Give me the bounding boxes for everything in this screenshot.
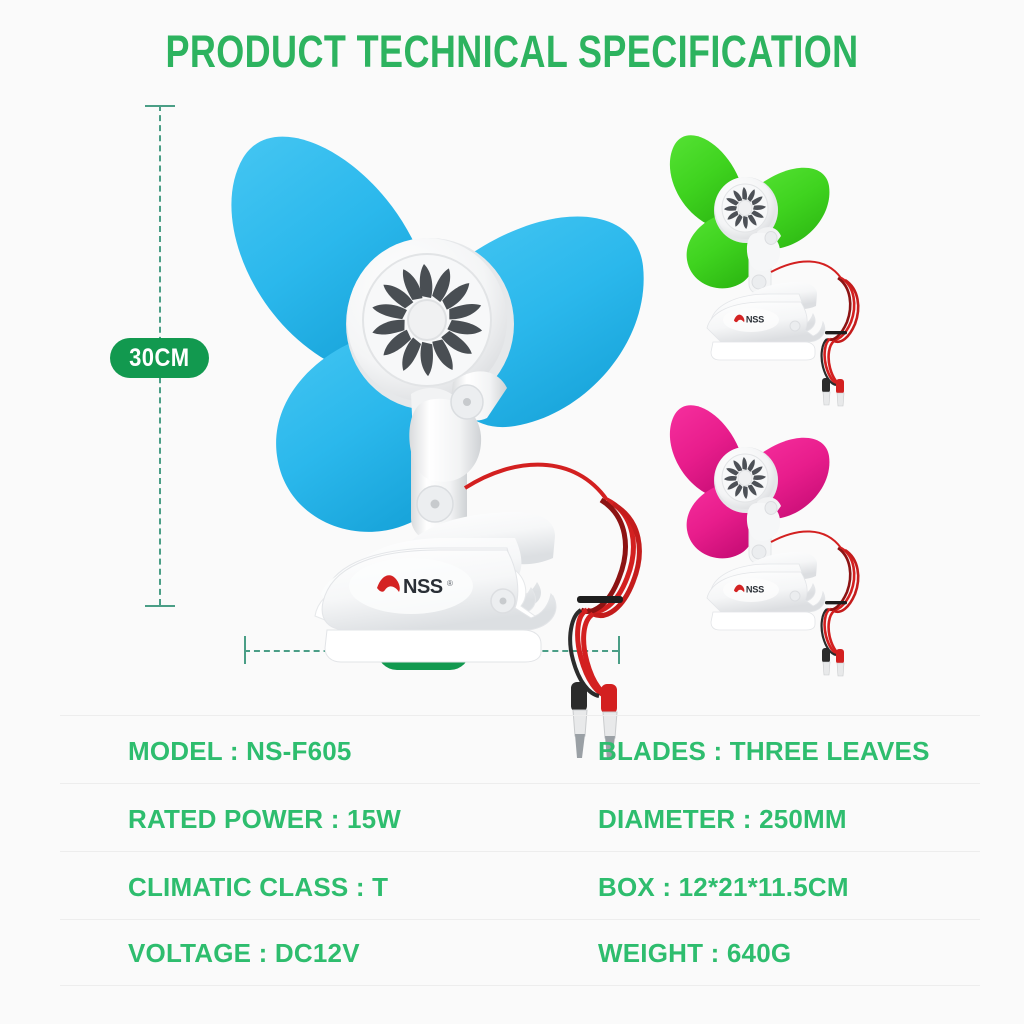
svg-text:NSS: NSS (746, 315, 764, 325)
table-rule (60, 985, 980, 986)
width-dimension-cap-right (618, 636, 620, 664)
spec-climatic-class: CLIMATIC CLASS : T (128, 872, 388, 903)
table-rule (60, 715, 980, 716)
spec-weight: WEIGHT : 640G (598, 938, 791, 969)
alligator-clip-black (822, 648, 830, 675)
height-dimension-cap-bottom (145, 605, 175, 607)
spec-model: MODEL : NS-F605 (128, 736, 352, 767)
height-dimension-cap-top (145, 105, 175, 107)
product-image-clip-fan-pink: NSS (665, 392, 905, 648)
spec-voltage: VOLTAGE : DC12V (128, 938, 360, 969)
spec-blades: BLADES : THREE LEAVES (598, 736, 930, 767)
width-dimension-cap-left (244, 636, 246, 664)
svg-text:NSS: NSS (403, 576, 443, 598)
product-image-clip-fan-green: NSS (665, 122, 905, 378)
product-spec-page: PRODUCT TECHNICAL SPECIFICATION 30CM 24C… (0, 0, 1024, 1024)
product-image-clip-fan-blue: NSS ® (215, 96, 645, 596)
fan-base-pink: NSS (707, 552, 825, 630)
page-title: PRODUCT TECHNICAL SPECIFICATION (102, 26, 921, 78)
table-rule (60, 851, 980, 852)
spec-diameter: DIAMETER : 250MM (598, 804, 847, 835)
fan-arm-pink (747, 497, 781, 564)
svg-text:NSS: NSS (746, 585, 764, 595)
specification-table: MODEL : NS-F605 BLADES : THREE LEAVES RA… (0, 700, 1024, 1000)
svg-text:®: ® (447, 579, 453, 588)
spec-box: BOX : 12*21*11.5CM (598, 872, 849, 903)
fan-base-blue: NSS ® (315, 512, 556, 662)
table-rule (60, 919, 980, 920)
table-rule (60, 783, 980, 784)
height-dimension-badge: 30CM (110, 338, 209, 378)
fan-base-green: NSS (707, 282, 825, 360)
spec-rated-power: RATED POWER : 15W (128, 804, 401, 835)
alligator-clip-red (836, 649, 844, 676)
height-dimension-label: 30CM (129, 344, 189, 373)
fan-arm-green (747, 227, 781, 294)
